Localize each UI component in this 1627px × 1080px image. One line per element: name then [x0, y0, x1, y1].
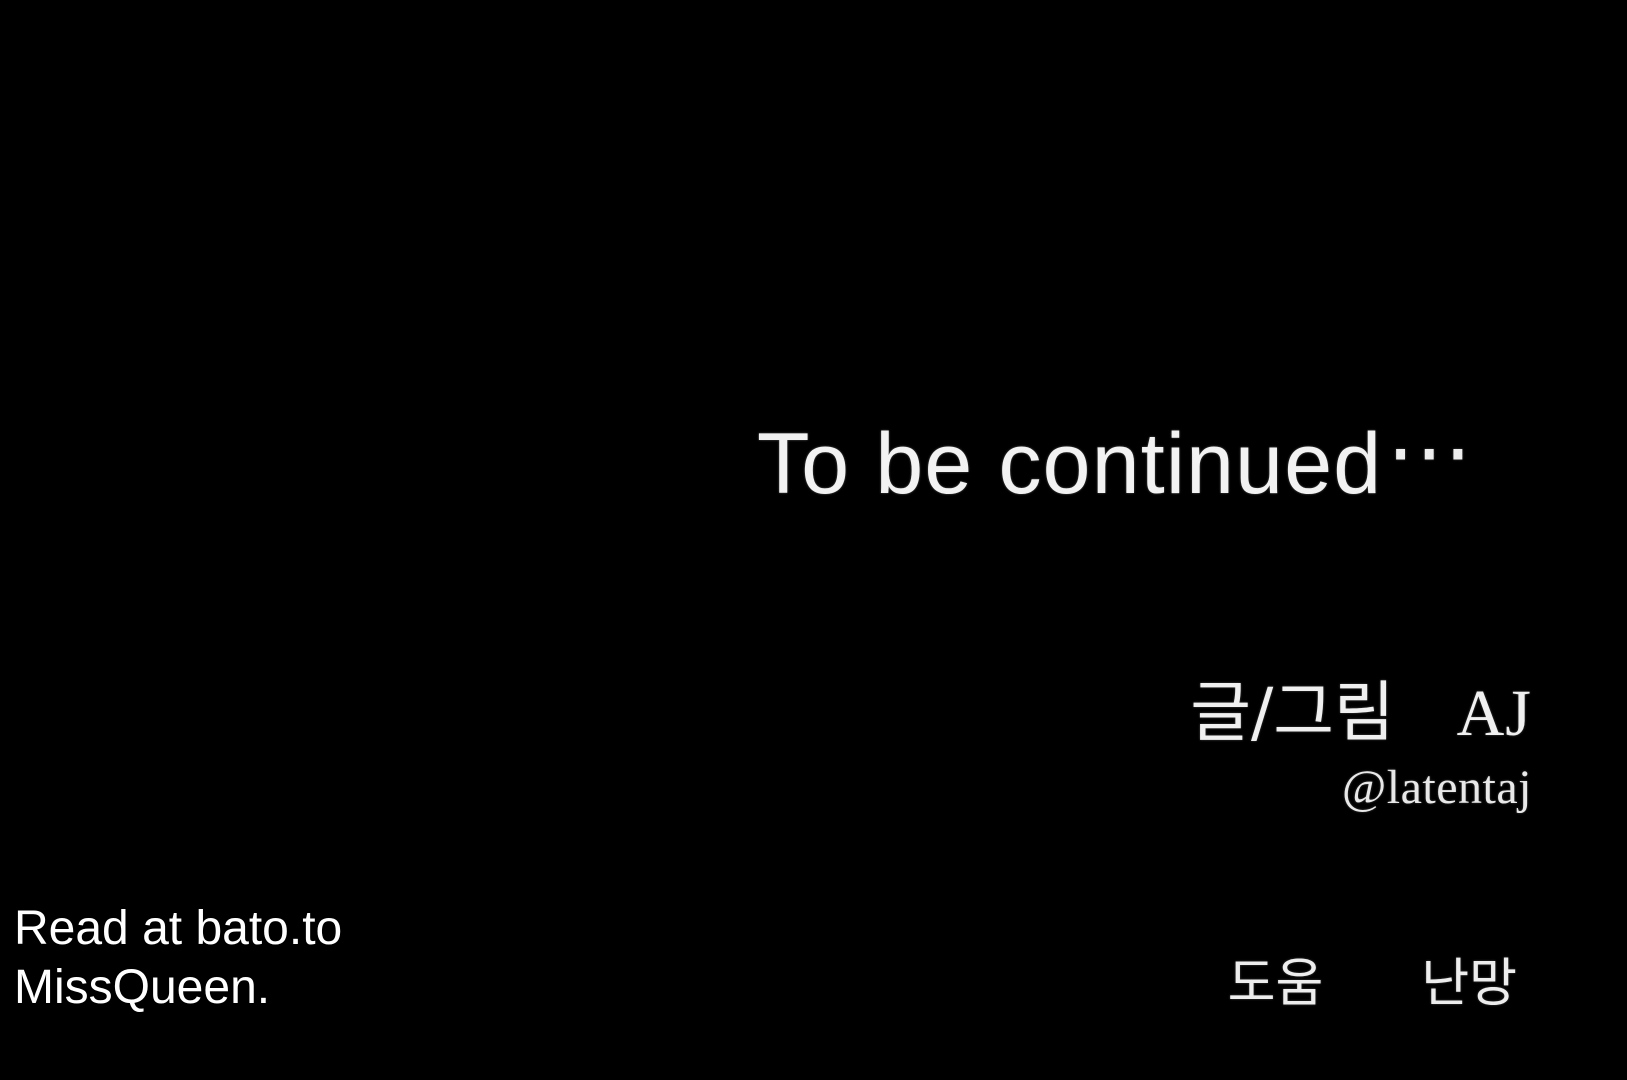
help-credit-label: 도움	[1228, 958, 1324, 1010]
scanlation-watermark: Read at bato.to MissQueen.	[14, 900, 342, 1017]
credit-role-row: 글/그림 AJ	[1190, 678, 1532, 748]
help-credit-value: 난망	[1421, 958, 1517, 1010]
watermark-line-2: MissQueen.	[14, 959, 342, 1018]
credit-author-handle: @latentaj	[1190, 764, 1532, 812]
comic-end-panel: To be continued ⋯ 글/그림 AJ @latentaj 도움 난…	[0, 0, 1627, 1080]
watermark-line-1: Read at bato.to	[14, 900, 342, 959]
credit-author-name: AJ	[1457, 679, 1532, 748]
bottom-credits-row: 도움 난망	[1228, 958, 1517, 1010]
credit-role-label: 글/그림	[1190, 678, 1394, 747]
credit-block: 글/그림 AJ @latentaj	[1190, 678, 1532, 812]
ellipsis-glyph: ⋯	[1386, 409, 1477, 495]
to-be-continued-text: To be continued	[757, 421, 1382, 507]
to-be-continued-line: To be continued ⋯	[757, 404, 1557, 524]
